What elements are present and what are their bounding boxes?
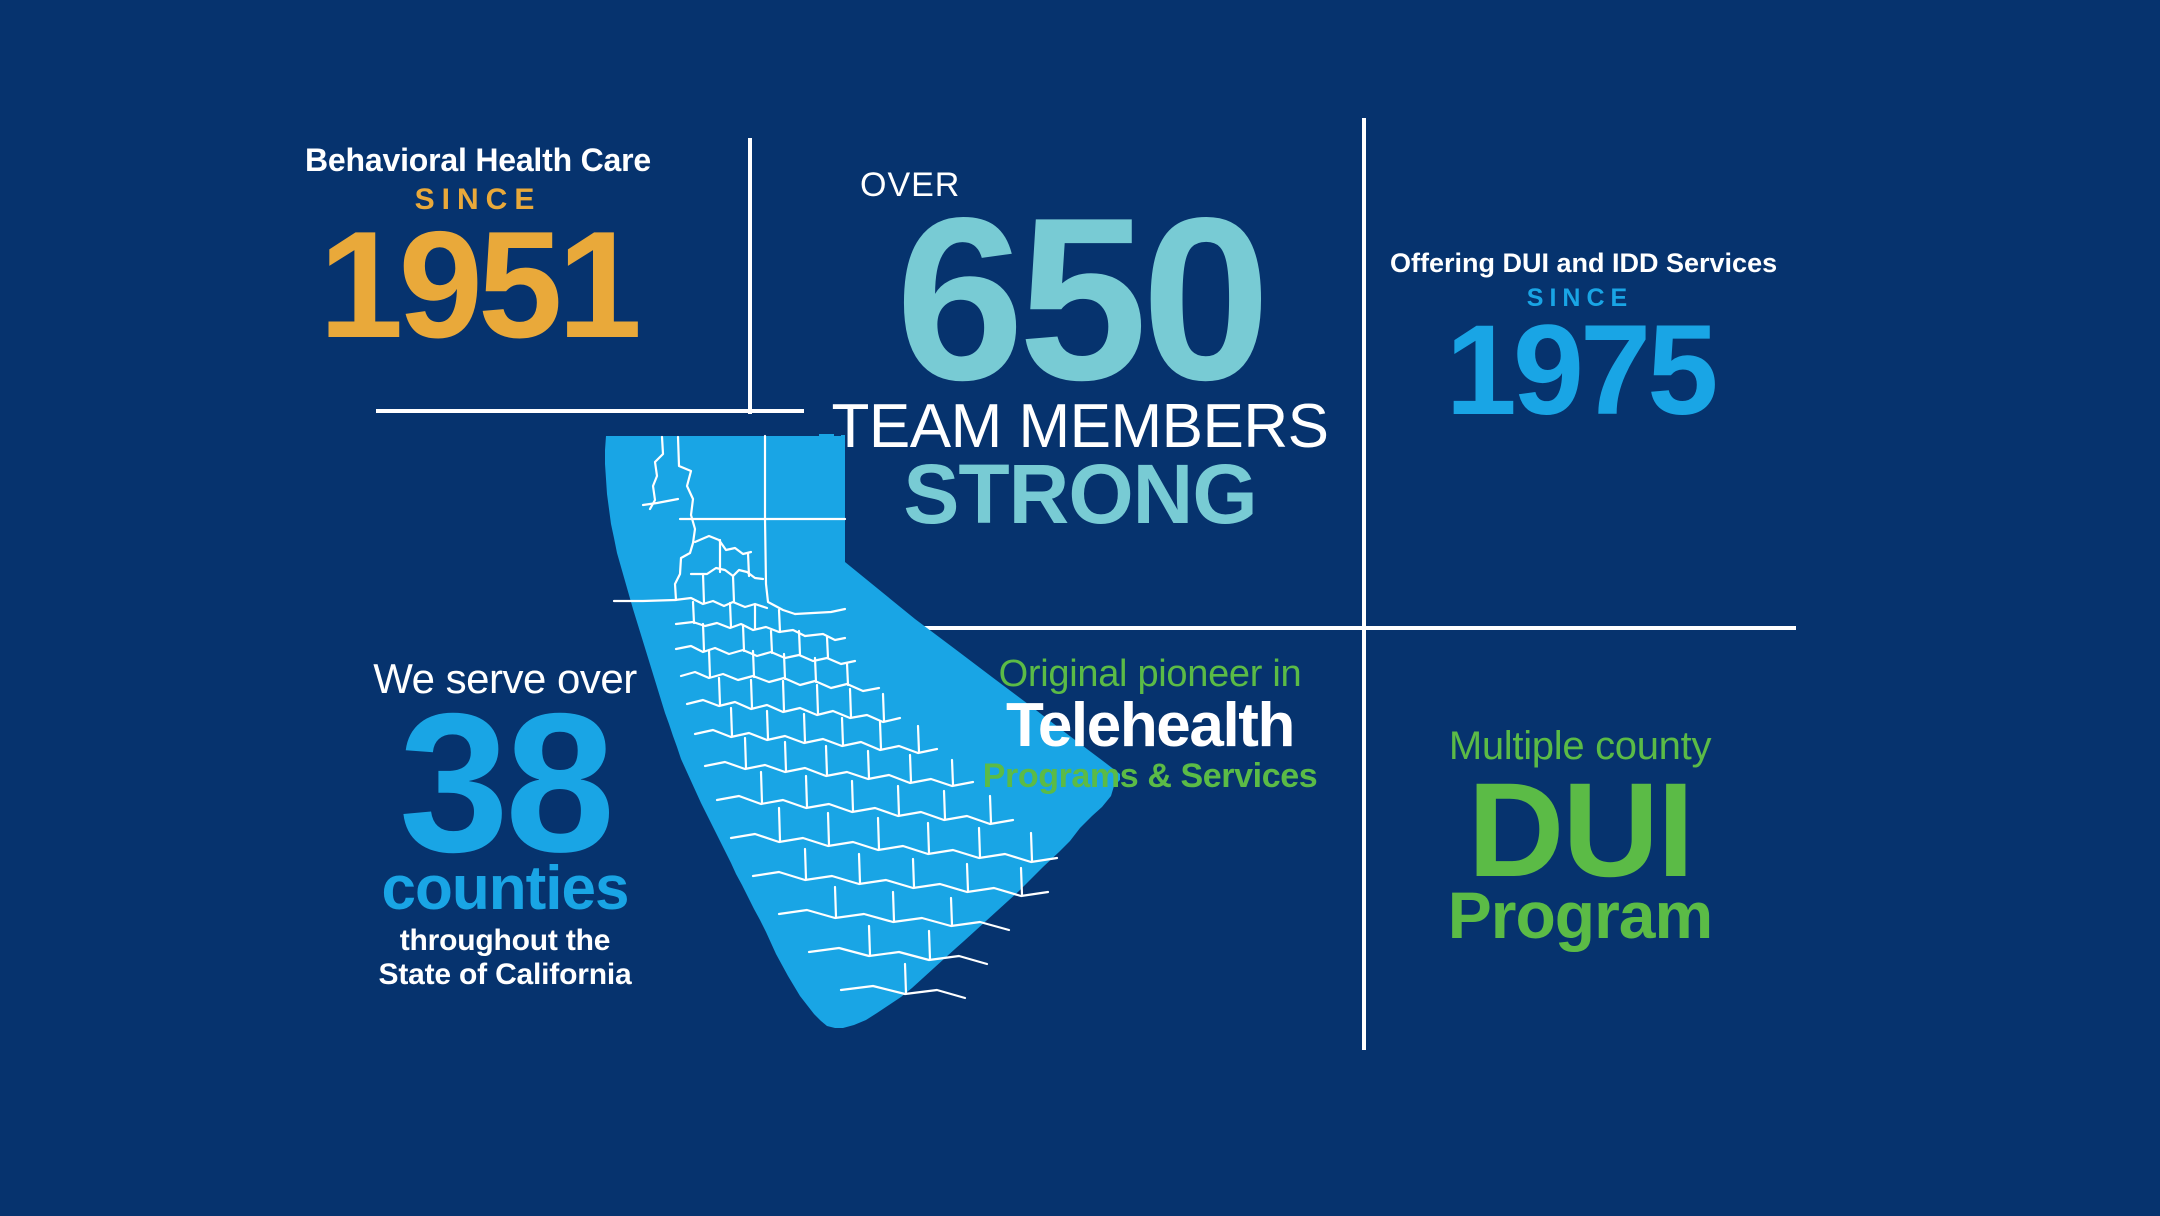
stat-team-members: OVER 650 TEAM MEMBERS STRONG bbox=[780, 168, 1380, 536]
divider-horizontal-left bbox=[376, 409, 804, 413]
team-number: 650 bbox=[780, 184, 1380, 416]
counties-word: counties bbox=[300, 858, 710, 920]
stat-counties: We serve over 38 counties throughout the… bbox=[300, 658, 710, 990]
telehealth-main: Telehealth bbox=[940, 695, 1360, 757]
since-1951-kicker: Behavioral Health Care bbox=[268, 144, 688, 176]
telehealth-sub: Programs & Services bbox=[940, 759, 1360, 793]
stat-since-1951: Behavioral Health Care SINCE 1951 bbox=[268, 144, 688, 361]
divider-vertical-left bbox=[748, 138, 752, 414]
stat-dui-program: Multiple county DUI Program bbox=[1390, 726, 1770, 948]
stat-telehealth: Original pioneer in Telehealth Programs … bbox=[940, 655, 1360, 793]
since-1975-kicker: Offering DUI and IDD Services bbox=[1390, 250, 1770, 277]
team-emphasis: STRONG bbox=[780, 452, 1380, 536]
telehealth-kicker: Original pioneer in bbox=[940, 655, 1360, 693]
since-1951-year: 1951 bbox=[268, 209, 688, 361]
since-1975-year: 1975 bbox=[1390, 307, 1770, 435]
infographic-canvas: Behavioral Health Care SINCE 1951 OVER 6… bbox=[0, 0, 2160, 1216]
counties-number: 38 bbox=[300, 684, 710, 882]
counties-sub-line-1: throughout the bbox=[300, 926, 710, 956]
counties-sub-line-2: State of California bbox=[300, 960, 710, 990]
stat-since-1975: Offering DUI and IDD Services SINCE 1975 bbox=[1390, 250, 1770, 435]
dui-word: Program bbox=[1390, 882, 1770, 948]
